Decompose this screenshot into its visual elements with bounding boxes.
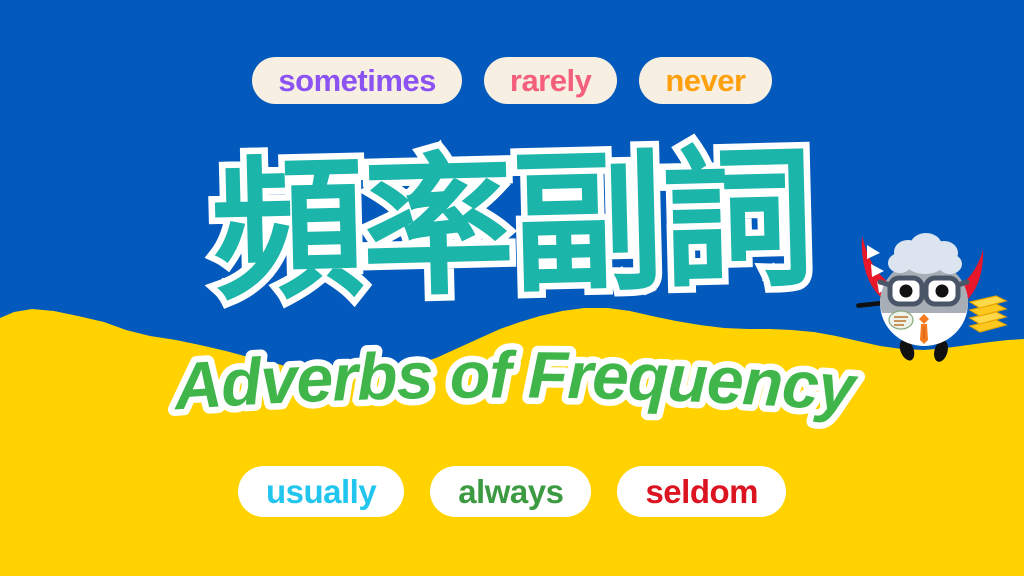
- mascot-books-icon: [970, 296, 1006, 332]
- mascot-hair: [888, 233, 962, 274]
- pill-sometimes[interactable]: sometimes: [252, 57, 461, 104]
- mascot-eye-left: [900, 285, 913, 298]
- pill-usually-label: usually: [266, 475, 376, 508]
- pill-always[interactable]: always: [430, 466, 591, 517]
- pill-never-label: never: [665, 65, 745, 96]
- professor-egg-mascot: [836, 216, 1008, 368]
- poster-canvas: sometimes rarely never 頻率副詞 Adverbs of F…: [0, 0, 1024, 576]
- pill-always-label: always: [458, 475, 563, 508]
- bottom-adverb-pill-row: usually always seldom: [0, 466, 1024, 517]
- pill-rarely[interactable]: rarely: [484, 57, 617, 104]
- mascot-eye-right: [936, 285, 949, 298]
- pill-sometimes-label: sometimes: [278, 65, 435, 96]
- pill-seldom[interactable]: seldom: [617, 466, 786, 517]
- pill-never[interactable]: never: [639, 57, 771, 104]
- pill-usually[interactable]: usually: [238, 466, 404, 517]
- pill-rarely-label: rarely: [510, 65, 591, 96]
- mascot-name-badge: [889, 311, 913, 329]
- mascot-horn-left-notch-1: [867, 245, 880, 259]
- top-adverb-pill-row: sometimes rarely never: [0, 57, 1024, 104]
- pill-seldom-label: seldom: [645, 475, 758, 508]
